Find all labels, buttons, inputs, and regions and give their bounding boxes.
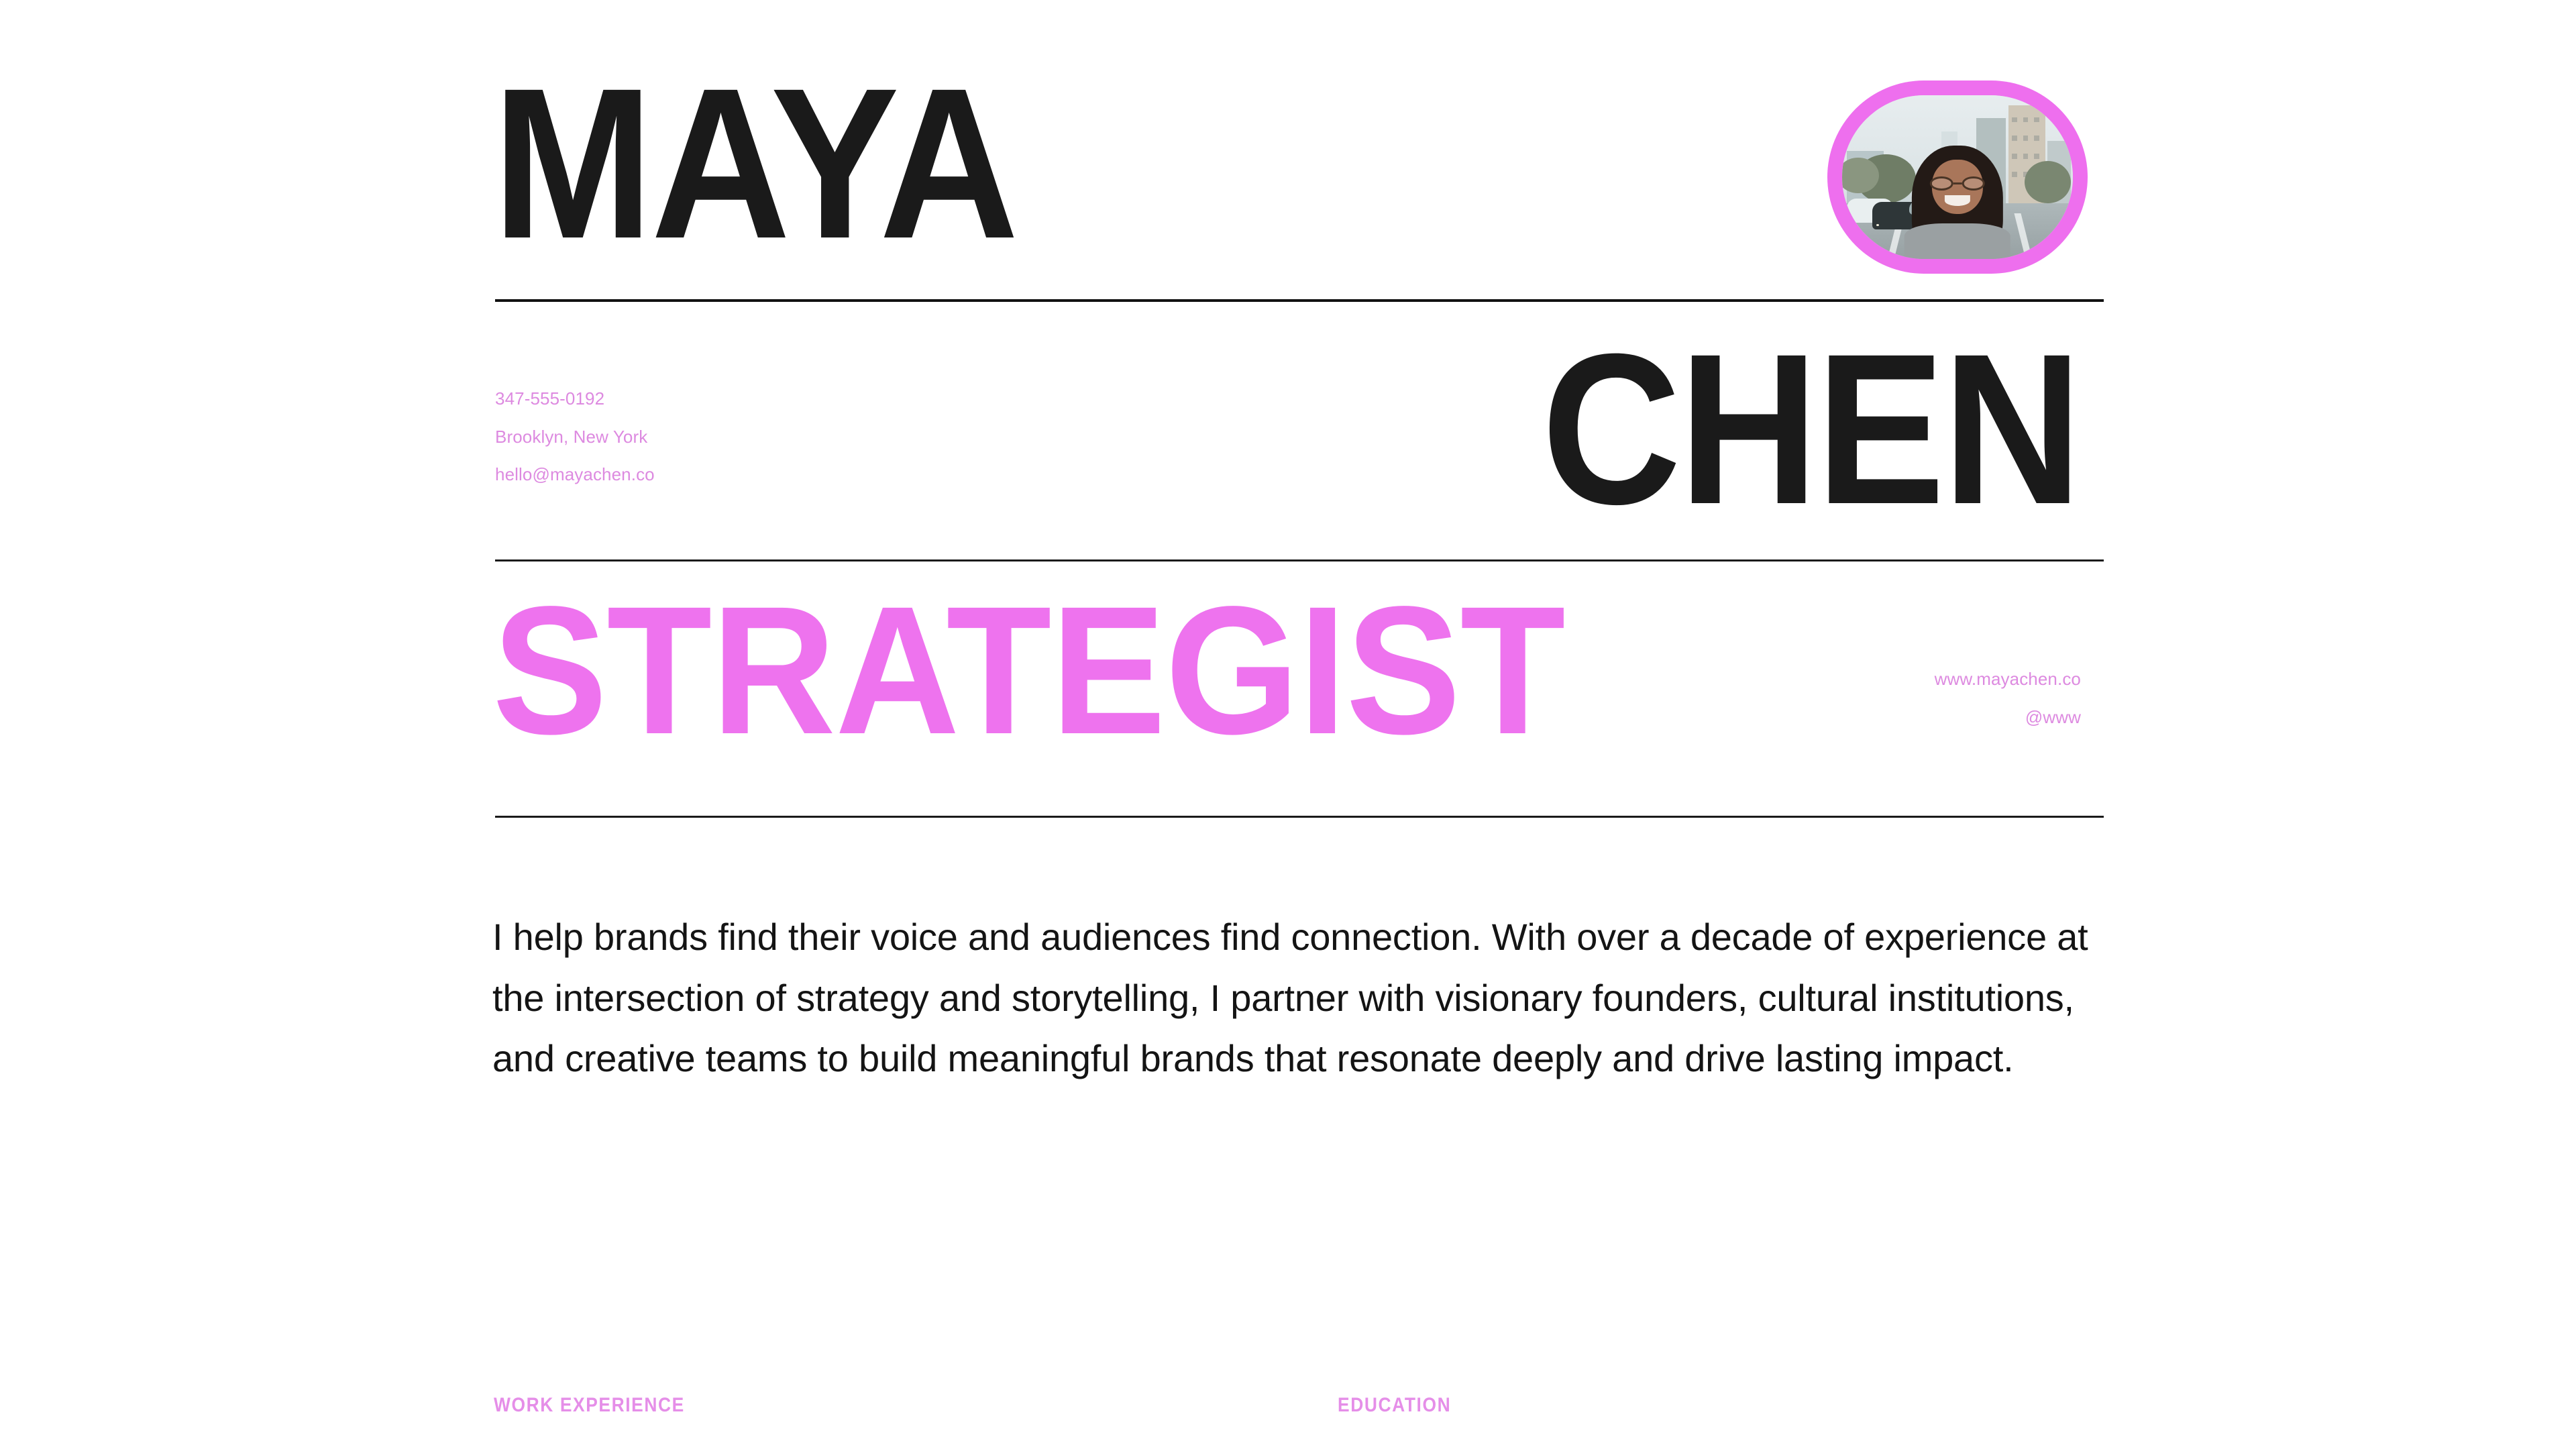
resume-page: MAYA — [0, 0, 2576, 1449]
divider-rule-3 — [495, 816, 2104, 818]
contact-block: 347-555-0192 Brooklyn, New York hello@ma… — [495, 380, 655, 494]
photo-person-smile — [1945, 195, 1970, 206]
section-label-education: EDUCATION — [1338, 1394, 1451, 1417]
photo-person-torso — [1904, 223, 2010, 259]
portrait-frame — [1827, 80, 2088, 274]
last-name: CHEN — [1542, 341, 2080, 517]
portrait-photo — [1842, 95, 2073, 259]
contact-phone[interactable]: 347-555-0192 — [495, 380, 655, 418]
glasses-icon — [1930, 176, 1985, 191]
role-title: STRATEGIST — [492, 596, 1565, 745]
photo-tree — [2025, 161, 2071, 203]
link-handle[interactable]: @www — [1935, 698, 2081, 737]
bio-paragraph: I help brands find their voice and audie… — [492, 907, 2109, 1089]
link-website[interactable]: www.mayachen.co — [1935, 660, 2081, 698]
divider-rule-1 — [495, 299, 2104, 302]
links-block: www.mayachen.co @www — [1935, 660, 2081, 736]
contact-email[interactable]: hello@mayachen.co — [495, 455, 655, 494]
contact-location: Brooklyn, New York — [495, 418, 655, 456]
first-name: MAYA — [492, 75, 1016, 251]
photo-person — [1904, 141, 2010, 259]
divider-rule-2 — [495, 559, 2104, 561]
section-label-work-experience: WORK EXPERIENCE — [494, 1394, 685, 1417]
